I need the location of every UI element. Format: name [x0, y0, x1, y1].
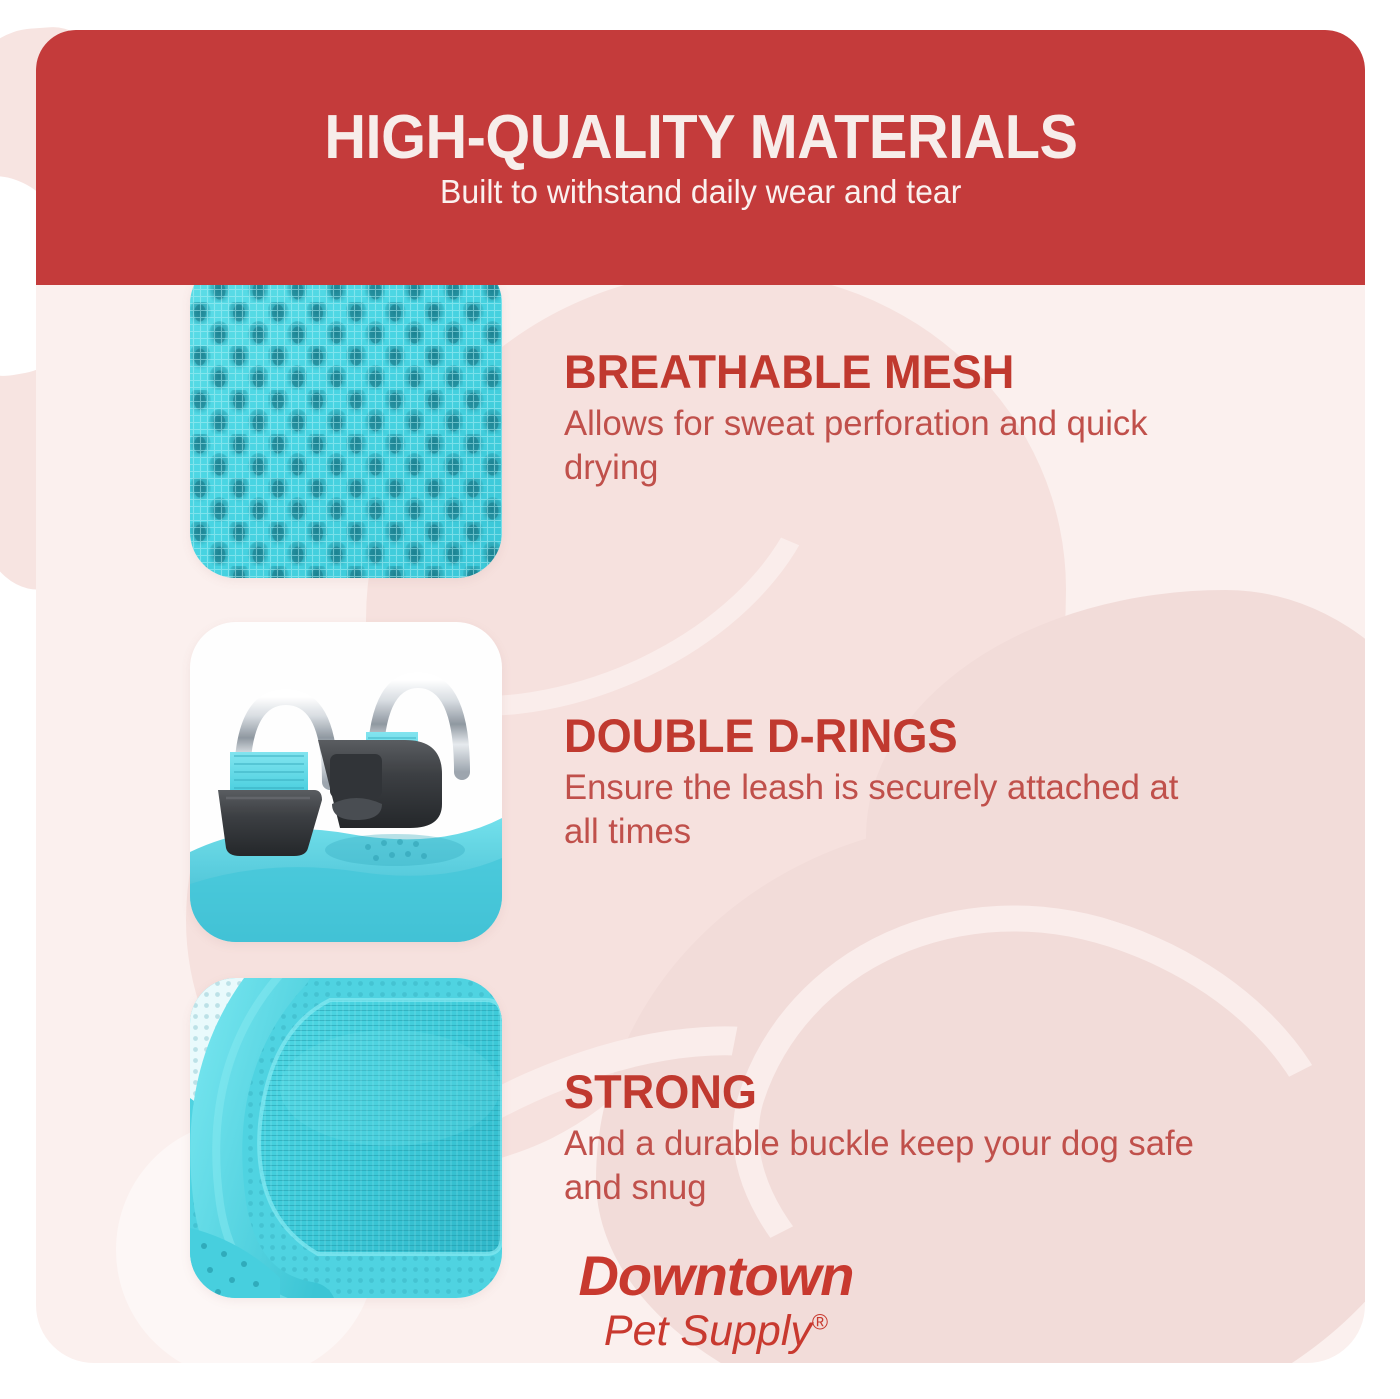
infographic-card: HIGH-QUALITY MATERIALS Built to withstan…	[36, 30, 1365, 1363]
breathable-mesh-image	[190, 258, 502, 578]
feature-text-block: DOUBLE D-RINGS Ensure the leash is secur…	[564, 711, 1204, 853]
feature-title: DOUBLE D-RINGS	[564, 711, 1178, 760]
brand-logo-line2-wrapper: Pet Supply®	[506, 1310, 926, 1353]
feature-description: And a durable buckle keep your dog safe …	[564, 1122, 1198, 1209]
feature-description: Allows for sweat perforation and quick d…	[564, 402, 1198, 489]
feature-row: BREATHABLE MESH Allows for sweat perfora…	[190, 258, 1204, 578]
registered-trademark-icon: ®	[812, 1310, 828, 1335]
page-subtitle: Built to withstand daily wear and tear	[440, 175, 961, 208]
feature-title: BREATHABLE MESH	[564, 347, 1178, 396]
page-background: HIGH-QUALITY MATERIALS Built to withstan…	[0, 0, 1400, 1399]
feature-text-block: STRONG And a durable buckle keep your do…	[564, 1067, 1204, 1209]
page-title: HIGH-QUALITY MATERIALS	[324, 107, 1077, 169]
feature-title: STRONG	[564, 1067, 1178, 1116]
double-d-rings-image	[190, 622, 502, 942]
feature-text-block: BREATHABLE MESH Allows for sweat perfora…	[564, 347, 1204, 489]
header-banner: HIGH-QUALITY MATERIALS Built to withstan…	[36, 30, 1365, 285]
brand-logo-line2: Pet Supply	[604, 1307, 812, 1355]
feature-row: DOUBLE D-RINGS Ensure the leash is secur…	[190, 622, 1204, 942]
brand-logo: Downtown Pet Supply®	[506, 1248, 926, 1353]
durable-buckle-image	[190, 978, 502, 1298]
brand-logo-line1: Downtown	[506, 1248, 926, 1304]
feature-description: Ensure the leash is securely attached at…	[564, 766, 1198, 853]
